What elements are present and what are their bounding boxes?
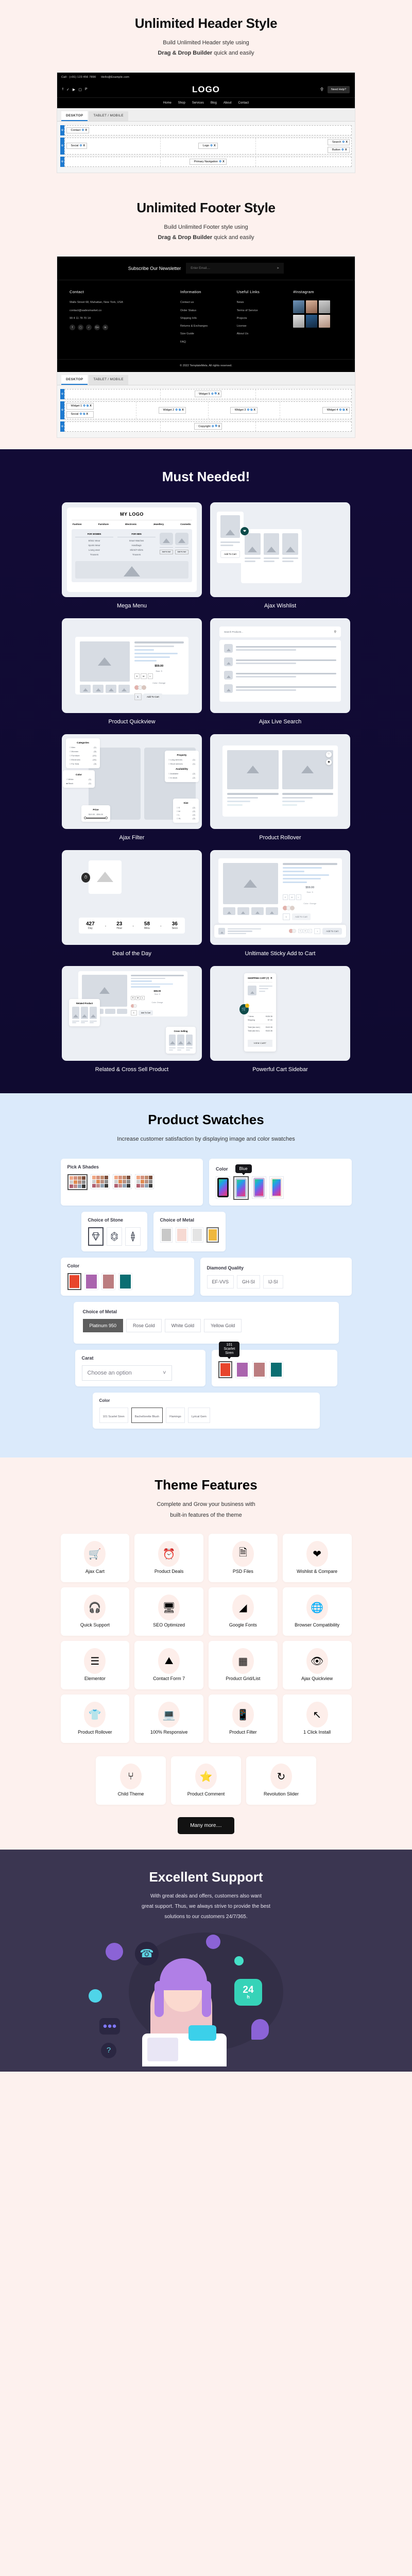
mega-col-item[interactable]: Trousers	[117, 553, 156, 556]
mega-nav-item[interactable]: Fashion	[73, 523, 82, 526]
size-option[interactable]: S	[283, 894, 288, 900]
gear-icon[interactable]: ⚙	[341, 148, 344, 151]
builder-cell[interactable]	[256, 389, 351, 399]
tab-tablet-mobile[interactable]: TABLET / MOBILE	[89, 111, 128, 121]
theme-feature-card[interactable]: ◢Google Fonts	[209, 1587, 278, 1636]
shade-swatch[interactable]	[113, 1174, 132, 1189]
quickview-eye-icon[interactable]: ◉	[326, 759, 332, 765]
color-swatch[interactable]	[142, 685, 146, 690]
mega-col-item[interactable]: Trousers	[75, 553, 113, 556]
add-to-cart-button[interactable]: Add To Cart	[322, 928, 342, 935]
builder-row[interactable]: ⚙∷Widget 5⚙⧉X	[60, 389, 352, 399]
filter-title: Price	[85, 808, 107, 811]
builder-row[interactable]: ⚙∷Social⚙X∷Logo⚙X∷Search⚙X∷Button⚙X	[60, 138, 352, 155]
header-builder-rows[interactable]: ⚙∷Contact⚙X⚙∷Social⚙X∷Logo⚙X∷Search⚙X∷Bu…	[57, 122, 355, 173]
cart-icon: 🛒	[242, 1007, 247, 1011]
header-email: Hello@Example.com	[101, 76, 129, 79]
close-icon[interactable]: X	[346, 409, 348, 412]
filter-option[interactable]: □ Short sleeves(1)	[168, 762, 195, 765]
close-icon[interactable]: ✕	[270, 977, 272, 980]
close-icon[interactable]: X	[86, 413, 88, 416]
theme-feature-card[interactable]: 🗎PSD Files	[209, 1534, 278, 1582]
filter-option[interactable]: □ Available(2)	[168, 772, 195, 775]
close-icon[interactable]: X	[222, 160, 225, 163]
many-more-button[interactable]: Many more....	[178, 1817, 234, 1834]
cross-sell-panel: Cross Selling	[166, 1027, 196, 1054]
close-icon[interactable]: X	[214, 144, 216, 147]
carat-select[interactable]: Choose an option ˅	[82, 1365, 172, 1381]
page-title: Unlimited Header Style	[0, 15, 412, 31]
mega-nav-item[interactable]: Cosmetic	[180, 523, 191, 526]
mega-col-item[interactable]: Shirts/T-shirts	[117, 549, 156, 551]
view-cart-button[interactable]: VIEW CART	[248, 1040, 272, 1047]
builder-cell[interactable]: ∷Search⚙X∷Button⚙X	[256, 138, 351, 154]
drag-dots-icon[interactable]: ∷	[68, 144, 70, 147]
facebook-icon[interactable]: f	[62, 88, 63, 91]
builder-widget-chip[interactable]: ∷Contact⚙X	[66, 127, 89, 133]
duplicate-icon[interactable]: ⧉	[342, 409, 345, 412]
builder-cell[interactable]	[256, 422, 351, 431]
feature-card-ajax-live-search[interactable]: Search Products... ⚲ Ajax Live Search	[210, 618, 350, 725]
filter-option[interactable]: □ XL(2)	[177, 817, 195, 820]
color-swatch[interactable]	[290, 906, 295, 910]
color-swatch[interactable]	[133, 1004, 137, 1008]
swatch-row-1: Pick A Shades Color Blue	[61, 1159, 352, 1206]
search-result-item[interactable]	[224, 671, 336, 680]
duplicate-icon[interactable]: ⧉	[215, 425, 217, 428]
wishlist-icon[interactable]: ♡	[326, 752, 332, 757]
builder-cell[interactable]: ∷Widget 3⚙⧉X	[209, 402, 280, 419]
twitter-icon[interactable]: ✓	[66, 88, 70, 92]
filter-option[interactable]: □ Electronic(16)	[70, 758, 96, 761]
filter-option[interactable]: □ S(2)	[177, 806, 195, 809]
size-option[interactable]: S	[134, 673, 140, 679]
filter-option[interactable]: □ M(2)	[177, 810, 195, 812]
size-option[interactable]: S	[131, 996, 135, 1000]
builder-cell[interactable]: ∷Social⚙X	[65, 138, 161, 154]
footer-link[interactable]: FAQ	[180, 340, 230, 344]
feature-card-ajax-wishlist[interactable]: Add To Cart ❤ Ajax Wishlist	[210, 502, 350, 609]
feature-card-cart-sidebar[interactable]: SHOPPING CART (7) ✕ 7 items€436.36 Shipp…	[210, 966, 350, 1073]
row-drag-handle[interactable]: ⚙	[60, 401, 64, 419]
facebook-icon[interactable]: f	[70, 325, 75, 330]
gear-icon[interactable]: ⚙	[339, 409, 341, 412]
close-icon[interactable]: X	[253, 409, 255, 412]
theme-feature-card[interactable]: 🎧Quick Support	[61, 1587, 130, 1636]
add-to-cart-button[interactable]: Add To Cart	[144, 693, 162, 700]
row-drag-handle[interactable]: ⚙	[60, 138, 64, 155]
quantity-stepper[interactable]: 1	[134, 693, 142, 700]
size-option[interactable]: M	[289, 894, 295, 900]
duplicate-icon[interactable]: ⧉	[250, 409, 252, 412]
theme-feature-card[interactable]: 💻100% Responsive	[134, 1694, 203, 1743]
gear-icon[interactable]: ⚙	[211, 393, 214, 396]
builder-widget-chip[interactable]: ∷Logo⚙X	[198, 143, 217, 149]
drag-dots-icon[interactable]: ∷	[330, 148, 331, 151]
color-block-swatch[interactable]	[101, 1273, 115, 1290]
color-block-swatch[interactable]	[118, 1273, 132, 1290]
mega-menu-nav[interactable]: Fashion Furniture Electronic Jewellery C…	[72, 520, 192, 528]
filter-option[interactable]: □ Long sleeves(1)	[168, 758, 195, 761]
diamond-quality-list[interactable]: EF-VVS GH-SI IJ-SI	[207, 1275, 345, 1289]
filter-property-availability: Property □ Long sleeves(1) □ Short sleev…	[165, 751, 199, 782]
drag-dots-icon[interactable]: ∷	[200, 144, 202, 147]
stone-swatch-list[interactable]	[88, 1227, 141, 1246]
dq-option[interactable]: EF-VVS	[207, 1275, 234, 1289]
need-help-button[interactable]: Need Help?	[328, 86, 350, 93]
footer-link[interactable]: Terms of Service	[237, 309, 286, 313]
nav-item-contact[interactable]: Contact	[238, 101, 249, 105]
footer-link[interactable]: Order Status	[180, 309, 230, 313]
row-drag-handle[interactable]: ⚙	[60, 157, 64, 167]
mega-col-item[interactable]: Ethnic Wear	[75, 539, 113, 542]
search-input[interactable]: Search Products... ⚲	[219, 626, 341, 637]
quantity-stepper[interactable]: 1	[314, 928, 320, 934]
builder-widget-chip[interactable]: ∷Widget 1⚙⧉X	[66, 403, 94, 410]
metal-color-swatch[interactable]	[207, 1227, 219, 1243]
metal-color-swatch[interactable]	[160, 1227, 173, 1243]
shade-swatch[interactable]	[91, 1174, 110, 1189]
filter-option[interactable]: □ Men(1)	[70, 746, 96, 749]
color-swatch[interactable]	[292, 929, 296, 933]
builder-cell[interactable]: ∷Widget 1⚙⧉X∷Social⚙⧉X	[65, 402, 136, 419]
footer-social[interactable]: f ▢ ✓ G+ in	[70, 325, 173, 330]
color-block-swatch[interactable]	[84, 1273, 98, 1290]
footer-link[interactable]: Shipping Info	[180, 316, 230, 320]
builder-row[interactable]: ⚙∷Copyright⚙⧉X	[60, 421, 352, 432]
youtube-icon[interactable]: ▶	[73, 88, 75, 92]
theme-feature-card[interactable]: ↻Revolution Slider	[246, 1756, 316, 1805]
widget-label: Search	[332, 141, 341, 144]
phone-color-swatch[interactable]	[233, 1176, 249, 1200]
builder-cell[interactable]: ∷Widget 5⚙⧉X	[161, 389, 256, 399]
row-drag-handle[interactable]: ⚙	[60, 125, 64, 135]
theme-feature-card[interactable]: 👁Ajax Quickview	[283, 1641, 352, 1689]
header-primary-nav[interactable]: Home Shop Services Blog About Contact	[57, 97, 355, 108]
theme-feature-card[interactable]: ❤Wishlist & Compare	[283, 1534, 352, 1582]
gear-icon[interactable]: ⚙	[210, 144, 213, 147]
color-block-swatch[interactable]	[67, 1273, 81, 1290]
builder-widget-chip[interactable]: ∷Widget 2⚙⧉X	[159, 407, 186, 414]
nav-item-home[interactable]: Home	[163, 101, 171, 105]
add-to-cart-button[interactable]: Add To Cart	[292, 913, 311, 920]
filter-option[interactable]: □ In stock(2)	[168, 776, 195, 779]
footer-link[interactable]: Projects	[237, 316, 286, 320]
footer-link[interactable]: Size Guide	[180, 332, 230, 336]
labelled-color-swatch[interactable]: 101 Scarlet Siren	[99, 1408, 128, 1423]
mega-product[interactable]: Add To Cart	[175, 533, 188, 558]
builder-widget-chip[interactable]: ∷Widget 3⚙⧉X	[230, 407, 257, 414]
close-icon[interactable]: X	[345, 148, 347, 151]
metal-color-swatch[interactable]	[176, 1227, 188, 1243]
gear-icon[interactable]: ⚙	[81, 129, 84, 132]
drag-dots-icon[interactable]: ∷	[196, 425, 198, 428]
feature-card-deal-of-the-day[interactable]: ⏱ 427Day . 23Hour . 58Minu . 36Seco Deal…	[62, 850, 202, 957]
close-icon[interactable]: X	[218, 393, 220, 396]
dq-option[interactable]: IJ-SI	[263, 1275, 283, 1289]
add-to-cart-button[interactable]: Add To Cart	[220, 550, 240, 558]
mega-menu-dropdown: FOR WOMEN Ethnic Wear Sports Wear Loung …	[72, 529, 192, 582]
builder-cell[interactable]	[65, 157, 161, 166]
drag-dots-icon[interactable]: ∷	[192, 160, 193, 163]
tooltip-color-swatch[interactable]	[252, 1361, 266, 1378]
builder-cell[interactable]: ∷Contact⚙X	[65, 126, 351, 135]
gear-icon[interactable]: ⚙	[175, 409, 178, 412]
instagram-thumb[interactable]	[319, 300, 330, 313]
footer-link[interactable]: About Us	[237, 332, 286, 336]
builder-row[interactable]: ⚙∷Widget 1⚙⧉X∷Social⚙⧉X∷Widget 2⚙⧉X∷Widg…	[60, 401, 352, 419]
builder-cell[interactable]: ∷Widget 4⚙⧉X	[280, 402, 351, 419]
drag-dots-icon[interactable]: ∷	[68, 129, 70, 132]
close-icon[interactable]: X	[90, 404, 92, 408]
nav-item-blog[interactable]: Blog	[211, 101, 217, 105]
pinterest-icon[interactable]: P	[85, 88, 88, 91]
filter-option[interactable]: □ White(1)	[66, 778, 91, 781]
tooltip-color-swatch[interactable]	[235, 1361, 249, 1378]
instagram-icon[interactable]: ▢	[78, 88, 82, 92]
instagram-thumb[interactable]	[306, 315, 317, 328]
row-drag-handle[interactable]: ⚙	[60, 421, 64, 432]
tooltip-color-swatch[interactable]	[269, 1361, 283, 1378]
builder-cell[interactable]	[256, 157, 351, 166]
close-icon[interactable]: X	[83, 144, 85, 147]
metal-option[interactable]: White Gold	[165, 1319, 201, 1332]
footer-builder-rows[interactable]: ⚙∷Widget 5⚙⧉X⚙∷Widget 1⚙⧉X∷Social⚙⧉X∷Wid…	[57, 385, 355, 437]
drag-dots-icon[interactable]: ∷	[68, 404, 70, 408]
wishlist-heart-icon[interactable]: ❤	[241, 527, 249, 535]
close-icon[interactable]: X	[218, 425, 220, 428]
swatch-tooltip: Blue	[235, 1164, 252, 1173]
labelled-color-swatch[interactable]: Bachellorette Blush	[131, 1408, 163, 1423]
footer-link[interactable]: Returns & Exchanges	[180, 324, 230, 328]
builder-widget-chip[interactable]: ∷Social⚙⧉X	[66, 411, 94, 418]
theme-feature-card[interactable]: 📱Product Filter	[209, 1694, 278, 1743]
mega-col-item[interactable]: Loung wear	[75, 549, 113, 551]
close-icon[interactable]: X	[346, 141, 348, 144]
header-social-icons[interactable]: f ✓ ▶ ▢ P	[62, 88, 88, 92]
instagram-thumb[interactable]	[293, 315, 304, 328]
theme-feature-card[interactable]: ⛰Contact Form 7	[134, 1641, 203, 1689]
feature-card-ajax-filter[interactable]: Categories □ Men(1) □ Women(5) □ Furnitu…	[62, 734, 202, 841]
theme-feature-card[interactable]: 🛒Ajax Cart	[61, 1534, 130, 1582]
filter-option[interactable]: □ Furniture(10)	[70, 754, 96, 757]
nav-item-shop[interactable]: Shop	[178, 101, 185, 105]
color-block-list[interactable]	[67, 1273, 187, 1290]
mega-nav-item[interactable]: Furniture	[98, 523, 109, 526]
mega-col-item[interactable]: Handbags	[117, 544, 156, 547]
filter-option[interactable]: □ For Kids(3)	[70, 762, 96, 765]
shade-swatch[interactable]	[135, 1174, 154, 1189]
builder-widget-chip[interactable]: ∷Search⚙X	[328, 139, 350, 145]
twitter-icon[interactable]: ✓	[86, 325, 92, 330]
stone-option-round[interactable]	[88, 1227, 104, 1246]
size-option[interactable]: L	[148, 673, 153, 679]
quantity-stepper[interactable]: 1	[283, 913, 290, 920]
drag-dots-icon[interactable]: ∷	[161, 409, 162, 412]
linkedin-icon[interactable]: in	[102, 325, 108, 330]
builder-row[interactable]: ⚙∷Contact⚙X	[60, 125, 352, 135]
search-result-item[interactable]	[224, 644, 336, 653]
theme-feature-label: Product Grid/List	[226, 1676, 260, 1682]
size-option[interactable]: L	[296, 894, 301, 900]
footer-link[interactable]: License	[237, 324, 286, 328]
duplicate-icon[interactable]: ⧉	[83, 413, 85, 416]
google-plus-icon[interactable]: G+	[94, 325, 100, 330]
must-needed-grid: MY LOGO Fashion Furniture Electronic Jew…	[62, 502, 350, 1073]
footer-col-useful-links: Useful Links News Terms of Service Proje…	[237, 290, 286, 348]
filter-option[interactable]: ■ Black(1)	[66, 782, 91, 785]
drag-dots-icon[interactable]: ∷	[330, 141, 331, 144]
builder-row[interactable]: ⚙∷Primary Navigation⚙X	[60, 157, 352, 167]
feature-card-sticky-add-to-cart[interactable]: $59.00 Size: S SML Color: Orange 1Add To…	[210, 850, 350, 957]
row-drag-handle[interactable]: ⚙	[60, 389, 64, 399]
theme-feature-card[interactable]: ▦Product Grid/List	[209, 1641, 278, 1689]
newsletter-input[interactable]: Enter Email.... ➤	[186, 263, 284, 274]
mega-col-item[interactable]: Smart Watches	[117, 539, 156, 542]
gear-icon[interactable]: ⚙	[219, 160, 221, 163]
feature-card-product-rollover[interactable]: ♡ ◉ Product Rollover	[210, 734, 350, 841]
shades-swatch-list[interactable]	[67, 1174, 197, 1190]
theme-feature-card[interactable]: 🌐Browser Compatibility	[283, 1587, 352, 1636]
metal-option[interactable]: Platinum 950	[83, 1319, 124, 1332]
builder-cell[interactable]: ∷Copyright⚙⧉X	[161, 422, 256, 431]
instagram-grid[interactable]	[293, 300, 342, 328]
theme-feature-card[interactable]: ☰Elementor	[61, 1641, 130, 1689]
search-result-item[interactable]	[224, 684, 336, 693]
quantity-stepper[interactable]: 1	[131, 1010, 137, 1015]
size-option[interactable]: M	[141, 673, 146, 679]
builder-widget-chip[interactable]: ∷Button⚙X	[328, 147, 350, 153]
dq-option[interactable]: GH-SI	[237, 1275, 260, 1289]
instagram-thumb[interactable]	[319, 315, 330, 328]
builder-cell[interactable]	[65, 422, 161, 431]
builder-cell[interactable]: ∷Widget 2⚙⧉X	[136, 402, 208, 419]
add-to-cart-button[interactable]: Add To Cart	[160, 550, 173, 554]
metal-option[interactable]: Yellow Gold	[204, 1319, 242, 1332]
duplicate-icon[interactable]: ⧉	[215, 392, 217, 396]
labelled-color-swatch[interactable]: Flamingo	[166, 1408, 185, 1423]
mega-col-item[interactable]: Sports Wear	[75, 544, 113, 547]
theme-feature-card[interactable]: ↖1 Click Install	[283, 1694, 352, 1743]
stone-option-marquise[interactable]	[125, 1227, 141, 1246]
card-title: Color	[99, 1398, 313, 1403]
footer-address: Walls Street 68, Mahattan, New York, USA	[70, 300, 173, 304]
theme-feature-label: Revolution Slider	[264, 1791, 299, 1798]
gear-icon[interactable]: ⚙	[247, 409, 249, 412]
cart-floating-icon[interactable]: 🛒 7	[239, 1004, 249, 1014]
builder-widget-chip[interactable]: ∷Copyright⚙⧉X	[194, 423, 222, 430]
gear-icon[interactable]: ⚙	[79, 413, 82, 416]
header-builder-tabs[interactable]: DESKTOP TABLET / MOBILE	[57, 108, 355, 122]
footer-builder-tabs[interactable]: DESKTOP TABLET / MOBILE	[57, 372, 355, 385]
size-option[interactable]: M	[303, 929, 307, 933]
footer-link[interactable]: Contact us	[180, 300, 230, 304]
tab-desktop[interactable]: DESKTOP	[61, 111, 88, 121]
duplicate-icon[interactable]: ⧉	[179, 409, 181, 412]
gear-icon[interactable]: ⚙	[342, 141, 345, 144]
nav-item-services[interactable]: Services	[192, 101, 204, 105]
phone-color-swatch[interactable]	[252, 1176, 266, 1199]
size-option[interactable]: L	[308, 929, 312, 933]
tooltip-color-swatch[interactable]	[218, 1361, 232, 1378]
gear-icon[interactable]: ⚙	[83, 404, 85, 408]
search-icon[interactable]: ⚲	[320, 87, 323, 92]
footer-contact-phone: 99 4 11 78 70 14	[70, 316, 173, 320]
drag-dots-icon[interactable]: ∷	[324, 409, 326, 412]
builder-widget-chip[interactable]: ∷Social⚙X	[66, 143, 87, 149]
theme-feature-card[interactable]: 👕Product Rollover	[61, 1694, 130, 1743]
size-option[interactable]: S	[298, 929, 302, 933]
filter-option[interactable]: □ Women(5)	[70, 750, 96, 753]
tab-desktop[interactable]: DESKTOP	[61, 375, 88, 385]
theme-feature-card[interactable]: ⭐Product Comment	[171, 1756, 241, 1805]
mega-nav-item[interactable]: Jewellery	[153, 523, 164, 526]
close-icon[interactable]: X	[182, 409, 184, 412]
drag-dots-icon[interactable]: ∷	[68, 413, 70, 416]
builder-cell[interactable]: ∷Logo⚙X	[161, 138, 256, 154]
metal-option[interactable]: Rose Gold	[126, 1319, 162, 1332]
builder-widget-chip[interactable]: ∷Widget 5⚙⧉X	[195, 391, 222, 397]
footer-link[interactable]: News	[237, 300, 286, 304]
builder-cell[interactable]: ∷Primary Navigation⚙X	[161, 157, 256, 166]
labelled-color-swatch[interactable]: Lyrical Gem	[188, 1408, 210, 1423]
search-result-item[interactable]	[224, 657, 336, 666]
metal-color-swatch[interactable]	[191, 1227, 203, 1243]
builder-widget-chip[interactable]: ∷Primary Navigation⚙X	[190, 159, 227, 165]
drag-dots-icon[interactable]: ∷	[197, 393, 198, 396]
gear-icon[interactable]: ⚙	[212, 425, 214, 428]
filter-option[interactable]: □ L(2)	[177, 814, 195, 816]
instagram-thumb[interactable]	[293, 300, 304, 313]
shade-swatch[interactable]	[67, 1174, 88, 1190]
feature-label: Product Quickview	[62, 719, 202, 725]
builder-widget-chip[interactable]: ∷Widget 4⚙⧉X	[322, 407, 350, 414]
size-option[interactable]: L	[141, 996, 145, 1000]
add-to-cart-button[interactable]: Add To Cart	[139, 1010, 153, 1015]
labelled-color-list[interactable]: 101 Scarlet SirenBachellorette BlushFlam…	[99, 1408, 313, 1423]
stone-option-oval[interactable]	[107, 1227, 122, 1246]
nav-item-about[interactable]: About	[224, 101, 232, 105]
mega-product[interactable]: Add To Cart	[160, 533, 173, 558]
metal-text-list[interactable]: Platinum 950 Rose Gold White Gold Yellow…	[83, 1319, 330, 1332]
tab-tablet-mobile[interactable]: TABLET / MOBILE	[89, 375, 128, 385]
instagram-thumb[interactable]	[306, 300, 317, 313]
phone-color-swatch[interactable]	[269, 1176, 284, 1199]
instagram-icon[interactable]: ▢	[78, 325, 83, 330]
close-icon[interactable]: X	[85, 129, 87, 132]
theme-feature-card[interactable]: 🖥SEO Optimized	[134, 1587, 203, 1636]
size-option[interactable]: M	[135, 996, 140, 1000]
send-icon[interactable]: ➤	[277, 266, 279, 270]
feature-card-mega-menu[interactable]: MY LOGO Fashion Furniture Electronic Jew…	[62, 502, 202, 609]
mega-nav-item[interactable]: Electronic	[125, 523, 136, 526]
drag-dots-icon[interactable]: ∷	[232, 409, 234, 412]
duplicate-icon[interactable]: ⧉	[87, 404, 89, 408]
builder-cell[interactable]	[65, 389, 161, 399]
phone-color-swatch[interactable]	[216, 1176, 230, 1199]
search-icon[interactable]: ⚲	[334, 630, 336, 634]
gear-icon[interactable]: ⚙	[79, 144, 82, 147]
price-range-slider[interactable]	[85, 818, 107, 819]
theme-feature-card[interactable]: ⑂Child Theme	[96, 1756, 166, 1805]
phone-swatch-list[interactable]	[216, 1176, 345, 1200]
tooltip-color-list[interactable]	[218, 1361, 330, 1378]
metal-swatch-list[interactable]	[160, 1227, 219, 1243]
theme-feature-card[interactable]: ⏰Product Deals	[134, 1534, 203, 1582]
feature-card-related-cross-sell[interactable]: $59.00 Size: S SML Color: Orange 1Add To…	[62, 966, 202, 1073]
add-to-cart-button[interactable]: Add To Cart	[175, 550, 188, 554]
feature-card-product-quickview[interactable]: $59.00 Size: S S M L Color: Orange	[62, 618, 202, 725]
